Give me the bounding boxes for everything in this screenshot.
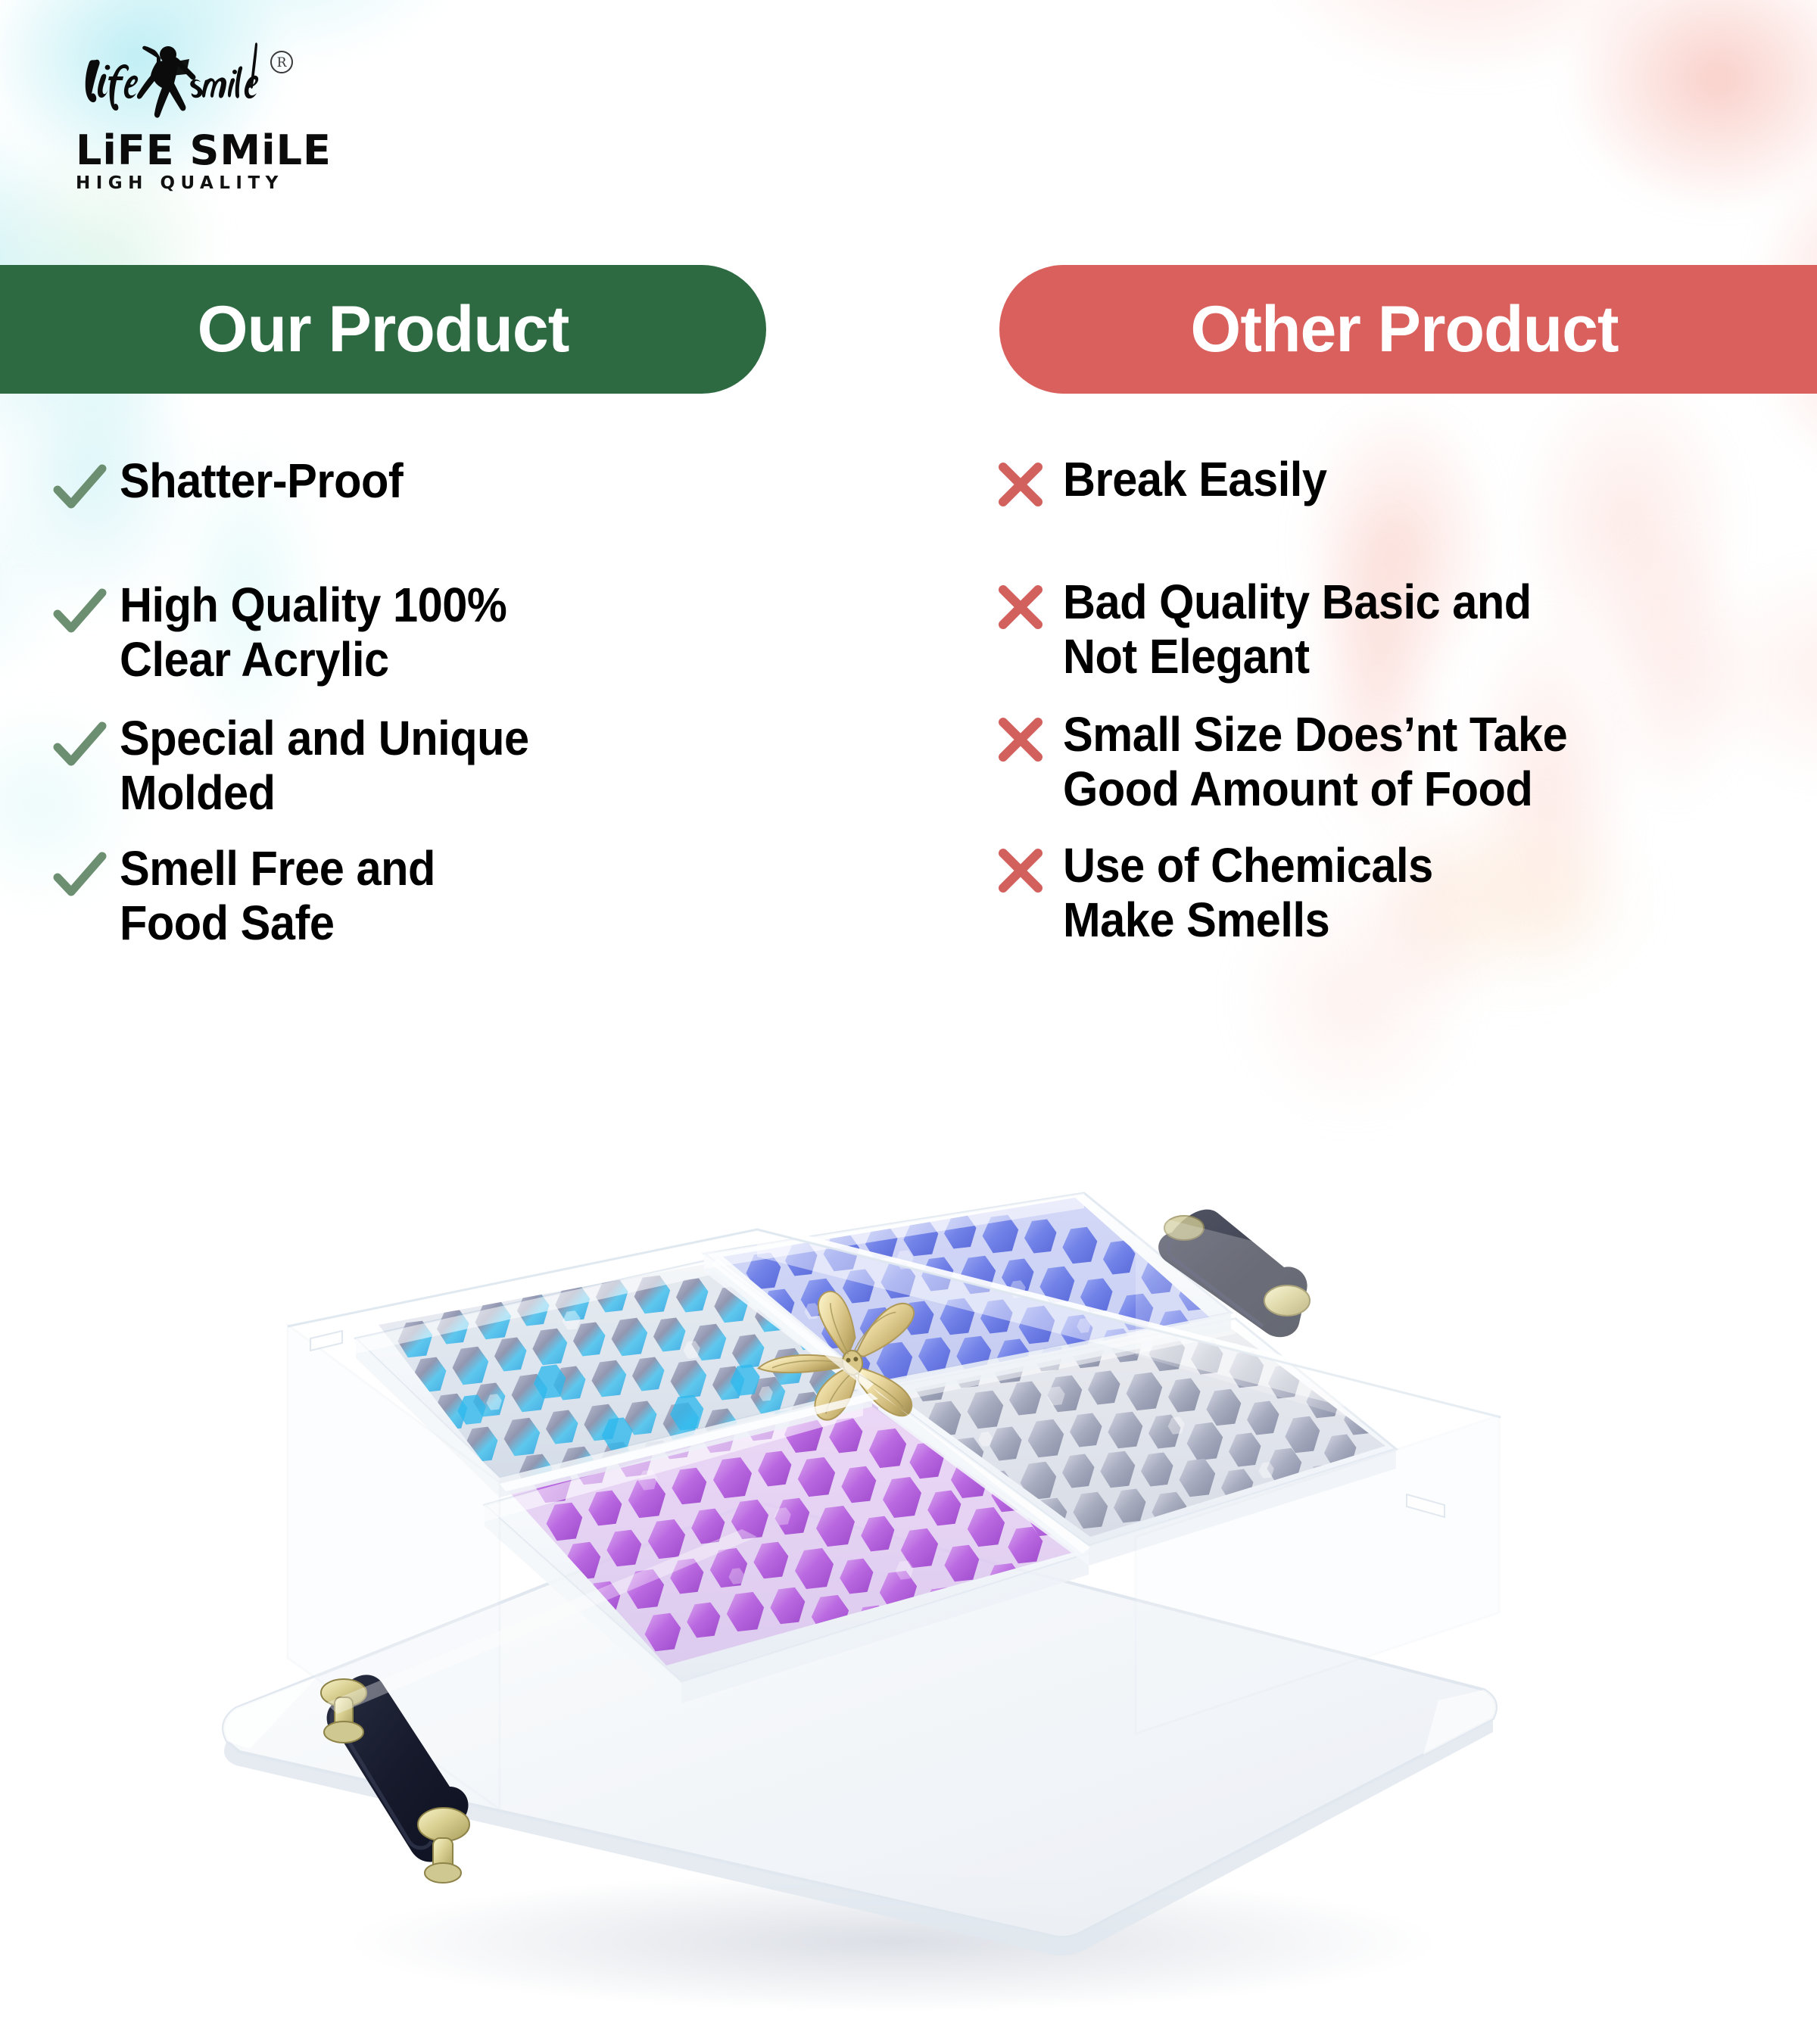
check-icon — [50, 712, 120, 775]
product-photo — [0, 1037, 1817, 2044]
infographic-page: R LiFE SMiLE HIGH QUALITY Our Product Ot… — [0, 0, 1817, 2044]
our-product-title: Our Product — [198, 292, 569, 367]
feature-item: Small Size Does’nt Take Good Amount of F… — [993, 708, 1605, 816]
feature-item: High Quality 100% Clear Acrylic — [50, 578, 536, 687]
feature-item: Smell Free and Food Safe — [50, 842, 459, 950]
check-icon — [50, 578, 120, 642]
feature-text: High Quality 100% Clear Acrylic — [120, 578, 506, 687]
feature-text: Break Easily — [1063, 453, 1326, 507]
feature-text: Use of Chemicals Make Smells — [1063, 839, 1433, 947]
feature-item: Break Easily — [993, 453, 1347, 516]
brand-logo: R LiFE SMiLE HIGH QUALITY — [76, 36, 394, 218]
feature-item: Use of Chemicals Make Smells — [993, 839, 1461, 947]
cross-icon — [993, 575, 1063, 639]
other-product-header-pill: Other Product — [999, 265, 1817, 394]
svg-text:R: R — [277, 55, 288, 70]
feature-text: Small Size Does’nt Take Good Amount of F… — [1063, 708, 1567, 816]
cross-icon — [993, 839, 1063, 902]
feature-item: Shatter-Proof — [50, 454, 424, 518]
feature-item: Special and Unique Molded — [50, 712, 559, 820]
feature-text: Smell Free and Food Safe — [120, 842, 435, 950]
other-product-title: Other Product — [1190, 292, 1618, 367]
our-product-header-pill: Our Product — [0, 265, 766, 394]
feature-text: Special and Unique Molded — [120, 712, 529, 820]
feature-text: Shatter-Proof — [120, 454, 403, 509]
logo-wordmark: LiFE SMiLE — [76, 130, 394, 171]
feature-item: Bad Quality Basic and Not Elegant — [993, 575, 1566, 684]
background-wash-cyan-secondary — [0, 91, 424, 961]
logo-tagline: HIGH QUALITY — [76, 175, 394, 192]
cross-icon — [993, 708, 1063, 771]
logo-mark: R — [76, 36, 303, 126]
feature-text: Bad Quality Basic and Not Elegant — [1063, 575, 1532, 684]
cross-icon — [993, 453, 1063, 516]
check-icon — [50, 842, 120, 905]
check-icon — [50, 454, 120, 518]
